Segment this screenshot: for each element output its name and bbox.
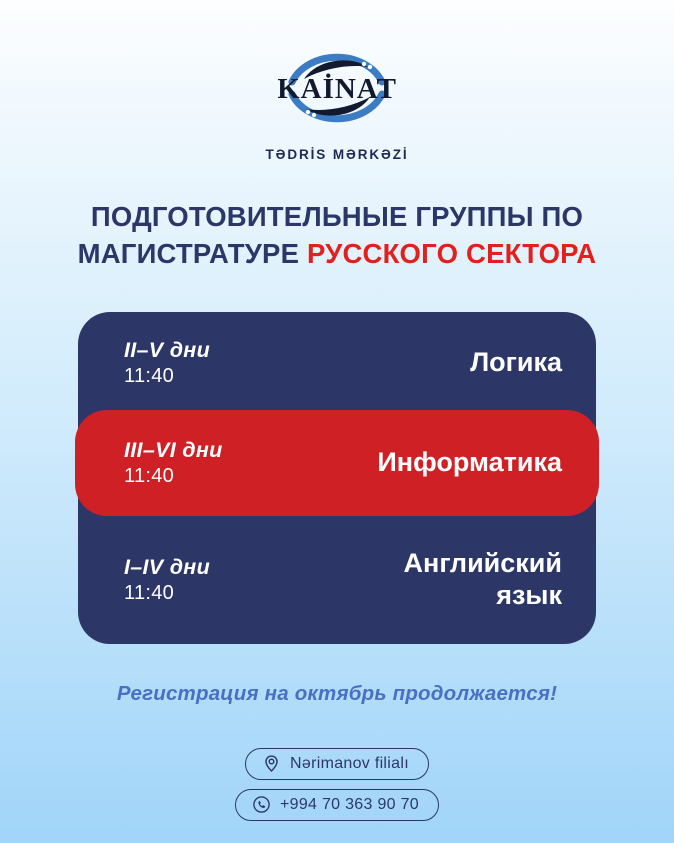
brand-tagline: TƏDRİS MƏRKƏZİ — [266, 147, 409, 162]
contact-list: Nərimanov filialı +994 70 363 90 70 — [0, 748, 674, 821]
headline-line-2-plain: МАГИСТРАТУРЕ — [78, 238, 300, 269]
headline-line-1: ПОДГОТОВИТЕЛЬНЫЕ ГРУППЫ ПО — [91, 201, 583, 232]
map-pin-icon — [262, 754, 281, 773]
phone-pill[interactable]: +994 70 363 90 70 — [235, 789, 439, 821]
branch-location-pill[interactable]: Nərimanov filialı — [245, 748, 429, 780]
schedule-days: II–V дни — [124, 338, 210, 363]
schedule-time: 11:40 — [124, 365, 210, 388]
schedule-row-english[interactable]: I–IV дни 11:40 Английский язык — [78, 516, 596, 644]
phone-icon — [252, 795, 271, 814]
branch-location-label: Nərimanov filialı — [290, 755, 409, 773]
phone-label: +994 70 363 90 70 — [280, 796, 419, 814]
svg-text:KAİNAT: KAİNAT — [278, 72, 396, 105]
registration-note: Регистрация на октябрь продолжается! — [0, 682, 674, 706]
kainat-circle-logo: KAİNAT — [278, 36, 396, 140]
schedule-days: I–IV дни — [124, 555, 210, 580]
schedule-when: II–V дни 11:40 — [124, 338, 210, 388]
schedule-subject: Английский язык — [404, 548, 562, 612]
schedule-subject: Информатика — [377, 447, 562, 479]
schedule-time: 11:40 — [124, 465, 223, 488]
schedule-days: III–VI дни — [124, 438, 223, 463]
schedule-when: I–IV дни 11:40 — [124, 555, 210, 605]
page-title: ПОДГОТОВИТЕЛЬНЫЕ ГРУППЫ ПО МАГИСТРАТУРЕ … — [42, 198, 632, 273]
headline-line-2-accent: РУССКОГО СЕКТОРА — [307, 238, 596, 269]
schedule-subject: Логика — [470, 347, 562, 379]
schedule-when: III–VI дни 11:40 — [124, 438, 223, 488]
schedule-time: 11:40 — [124, 582, 210, 605]
brand-logo: KAİNAT TƏDRİS MƏRKƏZİ — [0, 36, 674, 162]
schedule-row-logic[interactable]: II–V дни 11:40 Логика — [78, 312, 596, 414]
schedule-row-informatics[interactable]: III–VI дни 11:40 Информатика — [75, 410, 599, 516]
poster-canvas: KAİNAT TƏDRİS MƏRKƏZİ ПОДГОТОВИТЕЛЬНЫЕ Г… — [0, 0, 674, 843]
schedule-panel: II–V дни 11:40 Логика III–VI дни 11:40 И… — [78, 312, 596, 644]
